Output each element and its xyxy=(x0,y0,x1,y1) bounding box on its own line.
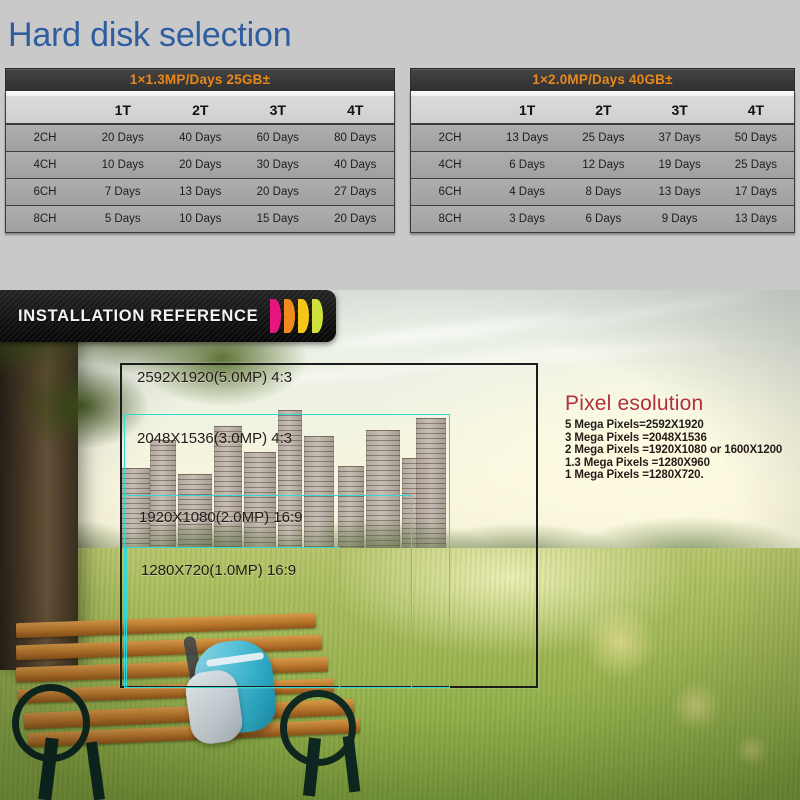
cell-3t: 13 Days xyxy=(642,186,718,198)
cell-2t: 12 Days xyxy=(565,159,641,171)
cell-3t: 20 Days xyxy=(239,186,317,198)
table-row: 4CH 6 Days 12 Days 19 Days 25 Days xyxy=(411,152,794,179)
pixel-resolution-line: 3 Mega Pixels =2048X1536 xyxy=(565,432,795,445)
cell-3t: 9 Days xyxy=(642,213,718,225)
row-label: 4CH xyxy=(6,159,84,171)
cell-2t: 25 Days xyxy=(565,132,641,144)
cell-2t: 8 Days xyxy=(565,186,641,198)
row-label: 4CH xyxy=(411,159,489,171)
table-row: 8CH 5 Days 10 Days 15 Days 20 Days xyxy=(6,206,394,232)
pixel-resolution-line: 1.3 Mega Pixels =1280X960 xyxy=(565,457,795,470)
page-title: Hard disk selection xyxy=(8,16,291,55)
cell-4t: 20 Days xyxy=(317,213,395,225)
row-label: 8CH xyxy=(6,213,84,225)
cell-4t: 80 Days xyxy=(317,132,395,144)
column-header-4t: 4T xyxy=(317,102,395,118)
table-body: 1T 2T 3T 4T 2CH 13 Days 25 Days 37 Days … xyxy=(410,91,795,233)
table-caption: 1×1.3MP/Days 25GB± xyxy=(5,68,395,91)
table-row: 6CH 4 Days 8 Days 13 Days 17 Days xyxy=(411,179,794,206)
column-header-2t: 2T xyxy=(565,102,641,118)
cell-4t: 17 Days xyxy=(718,186,794,198)
row-label: 6CH xyxy=(6,186,84,198)
installation-reference-banner: INSTALLATION REFERENCE xyxy=(0,290,336,342)
row-label: 2CH xyxy=(6,132,84,144)
column-header-3t: 3T xyxy=(239,102,317,118)
cell-4t: 25 Days xyxy=(718,159,794,171)
cell-4t: 27 Days xyxy=(317,186,395,198)
table-row: 8CH 3 Days 6 Days 9 Days 13 Days xyxy=(411,206,794,232)
cell-3t: 15 Days xyxy=(239,213,317,225)
pixel-resolution-panel: Pixel esolution 5 Mega Pixels=2592X1920 … xyxy=(565,392,795,482)
chevron-icon-magenta xyxy=(270,299,281,333)
table-row: 2CH 20 Days 40 Days 60 Days 80 Days xyxy=(6,125,394,152)
resolution-label-5mp: 2592X1920(5.0MP) 4:3 xyxy=(137,369,292,386)
cell-3t: 30 Days xyxy=(239,159,317,171)
cell-4t: 13 Days xyxy=(718,213,794,225)
lens-flare xyxy=(520,590,800,800)
chevron-icon-yellow xyxy=(298,299,309,333)
cell-2t: 13 Days xyxy=(162,186,240,198)
resolution-label-1mp: 1280X720(1.0MP) 16:9 xyxy=(141,562,296,579)
table-header-row: 1T 2T 3T 4T xyxy=(6,96,394,125)
banner-label: INSTALLATION REFERENCE xyxy=(18,307,258,326)
hdd-table-1p3mp: 1×1.3MP/Days 25GB± 1T 2T 3T 4T 2CH 20 Da… xyxy=(5,68,395,233)
cell-1t: 20 Days xyxy=(84,132,162,144)
cell-1t: 13 Days xyxy=(489,132,565,144)
table-row: 4CH 10 Days 20 Days 30 Days 40 Days xyxy=(6,152,394,179)
cell-3t: 19 Days xyxy=(642,159,718,171)
hdd-table-2p0mp: 1×2.0MP/Days 40GB± 1T 2T 3T 4T 2CH 13 Da… xyxy=(410,68,795,233)
cell-2t: 40 Days xyxy=(162,132,240,144)
product-info-page: Hard disk selection 1×1.3MP/Days 25GB± 1… xyxy=(0,0,800,800)
banner-chevron-group xyxy=(270,299,323,333)
pixel-resolution-title: Pixel esolution xyxy=(565,392,795,416)
cell-1t: 10 Days xyxy=(84,159,162,171)
table-header-row: 1T 2T 3T 4T xyxy=(411,96,794,125)
table-row: 6CH 7 Days 13 Days 20 Days 27 Days xyxy=(6,179,394,206)
cell-2t: 10 Days xyxy=(162,213,240,225)
cell-4t: 50 Days xyxy=(718,132,794,144)
cell-1t: 3 Days xyxy=(489,213,565,225)
cell-2t: 6 Days xyxy=(565,213,641,225)
cell-3t: 37 Days xyxy=(642,132,718,144)
row-label: 6CH xyxy=(411,186,489,198)
cell-1t: 5 Days xyxy=(84,213,162,225)
row-label: 8CH xyxy=(411,213,489,225)
column-header-1t: 1T xyxy=(84,102,162,118)
column-header-3t: 3T xyxy=(642,102,718,118)
chevron-icon-orange xyxy=(284,299,295,333)
pixel-resolution-line: 1 Mega Pixels =1280X720. xyxy=(565,469,795,482)
resolution-label-3mp: 2048X1536(3.0MP) 4:3 xyxy=(137,430,292,447)
chevron-icon-lime xyxy=(312,299,323,333)
cell-1t: 6 Days xyxy=(489,159,565,171)
column-header-4t: 4T xyxy=(718,102,794,118)
resolution-label-2mp: 1920X1080(2.0MP) 16:9 xyxy=(139,509,302,526)
column-header-2t: 2T xyxy=(162,102,240,118)
cell-1t: 7 Days xyxy=(84,186,162,198)
cell-1t: 4 Days xyxy=(489,186,565,198)
hard-disk-selection-section: Hard disk selection 1×1.3MP/Days 25GB± 1… xyxy=(0,0,800,290)
column-header-1t: 1T xyxy=(489,102,565,118)
cell-3t: 60 Days xyxy=(239,132,317,144)
cell-4t: 40 Days xyxy=(317,159,395,171)
table-body: 1T 2T 3T 4T 2CH 20 Days 40 Days 60 Days … xyxy=(5,91,395,233)
table-row: 2CH 13 Days 25 Days 37 Days 50 Days xyxy=(411,125,794,152)
pixel-resolution-line: 2 Mega Pixels =1920X1080 or 1600X1200 xyxy=(565,444,795,457)
cell-2t: 20 Days xyxy=(162,159,240,171)
bench-leg xyxy=(343,736,361,793)
pixel-resolution-line: 5 Mega Pixels=2592X1920 xyxy=(565,419,795,432)
installation-reference-photo: 2592X1920(5.0MP) 4:3 2048X1536(3.0MP) 4:… xyxy=(0,290,800,800)
bench-leg xyxy=(86,742,105,800)
row-label: 2CH xyxy=(411,132,489,144)
table-caption: 1×2.0MP/Days 40GB± xyxy=(410,68,795,91)
